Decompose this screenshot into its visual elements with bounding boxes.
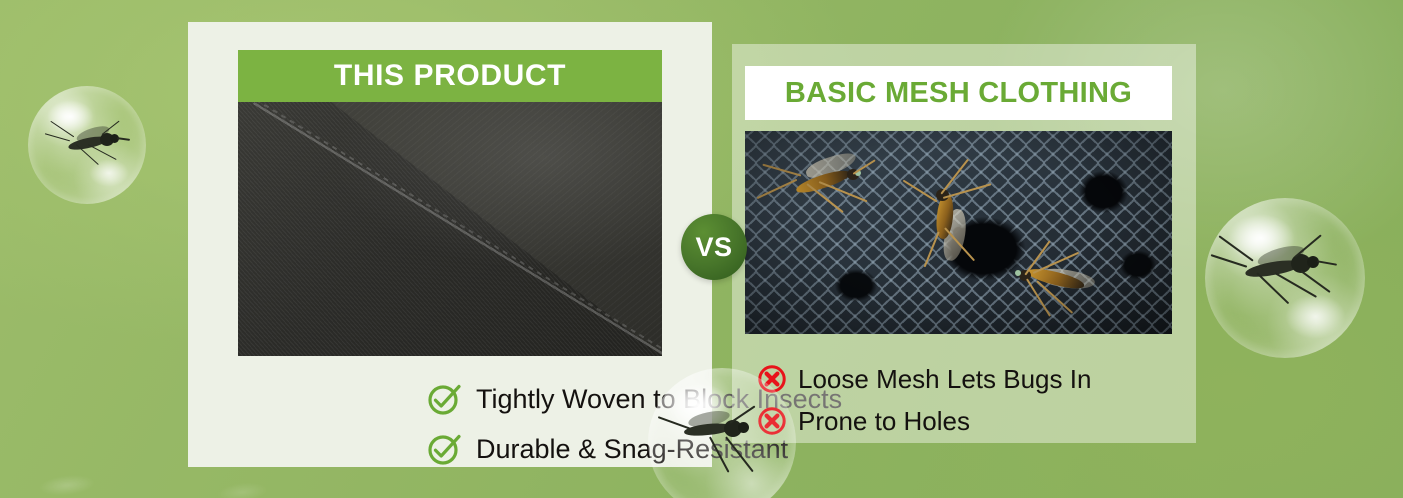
vs-label: VS bbox=[695, 232, 732, 263]
list-item-label: Prone to Holes bbox=[798, 406, 970, 437]
basic-mesh-header-banner: BASIC MESH CLOTHING bbox=[745, 66, 1172, 120]
mosquito-icon bbox=[46, 118, 132, 174]
mosquito-icon bbox=[1221, 236, 1351, 320]
cross-circle-icon bbox=[757, 406, 787, 436]
vs-badge: VS bbox=[681, 214, 747, 280]
list-item-label: Loose Mesh Lets Bugs In bbox=[798, 364, 1091, 395]
this-product-title: THIS PRODUCT bbox=[334, 59, 566, 93]
this-product-card: THIS PRODUCT Tightly Woven to Block Inse… bbox=[188, 22, 712, 467]
basic-mesh-photo bbox=[745, 131, 1172, 334]
basic-mesh-feature-list: Loose Mesh Lets Bugs In Prone to Holes bbox=[757, 358, 1091, 442]
check-circle-icon bbox=[426, 381, 462, 417]
check-circle-icon bbox=[426, 431, 462, 467]
infographic-canvas: THIS PRODUCT Tightly Woven to Block Inse… bbox=[0, 0, 1403, 498]
bubble-mosquito-right bbox=[1205, 198, 1365, 358]
bubble-mosquito-left bbox=[28, 86, 146, 204]
this-product-header-banner: THIS PRODUCT bbox=[238, 50, 662, 102]
this-product-photo bbox=[238, 102, 662, 356]
photo-vignette bbox=[745, 131, 1172, 334]
fabric-highlight bbox=[238, 102, 662, 356]
cross-circle-icon bbox=[757, 364, 787, 394]
list-item: Prone to Holes bbox=[757, 400, 1091, 442]
basic-mesh-title: BASIC MESH CLOTHING bbox=[785, 77, 1132, 110]
list-item: Loose Mesh Lets Bugs In bbox=[757, 358, 1091, 400]
